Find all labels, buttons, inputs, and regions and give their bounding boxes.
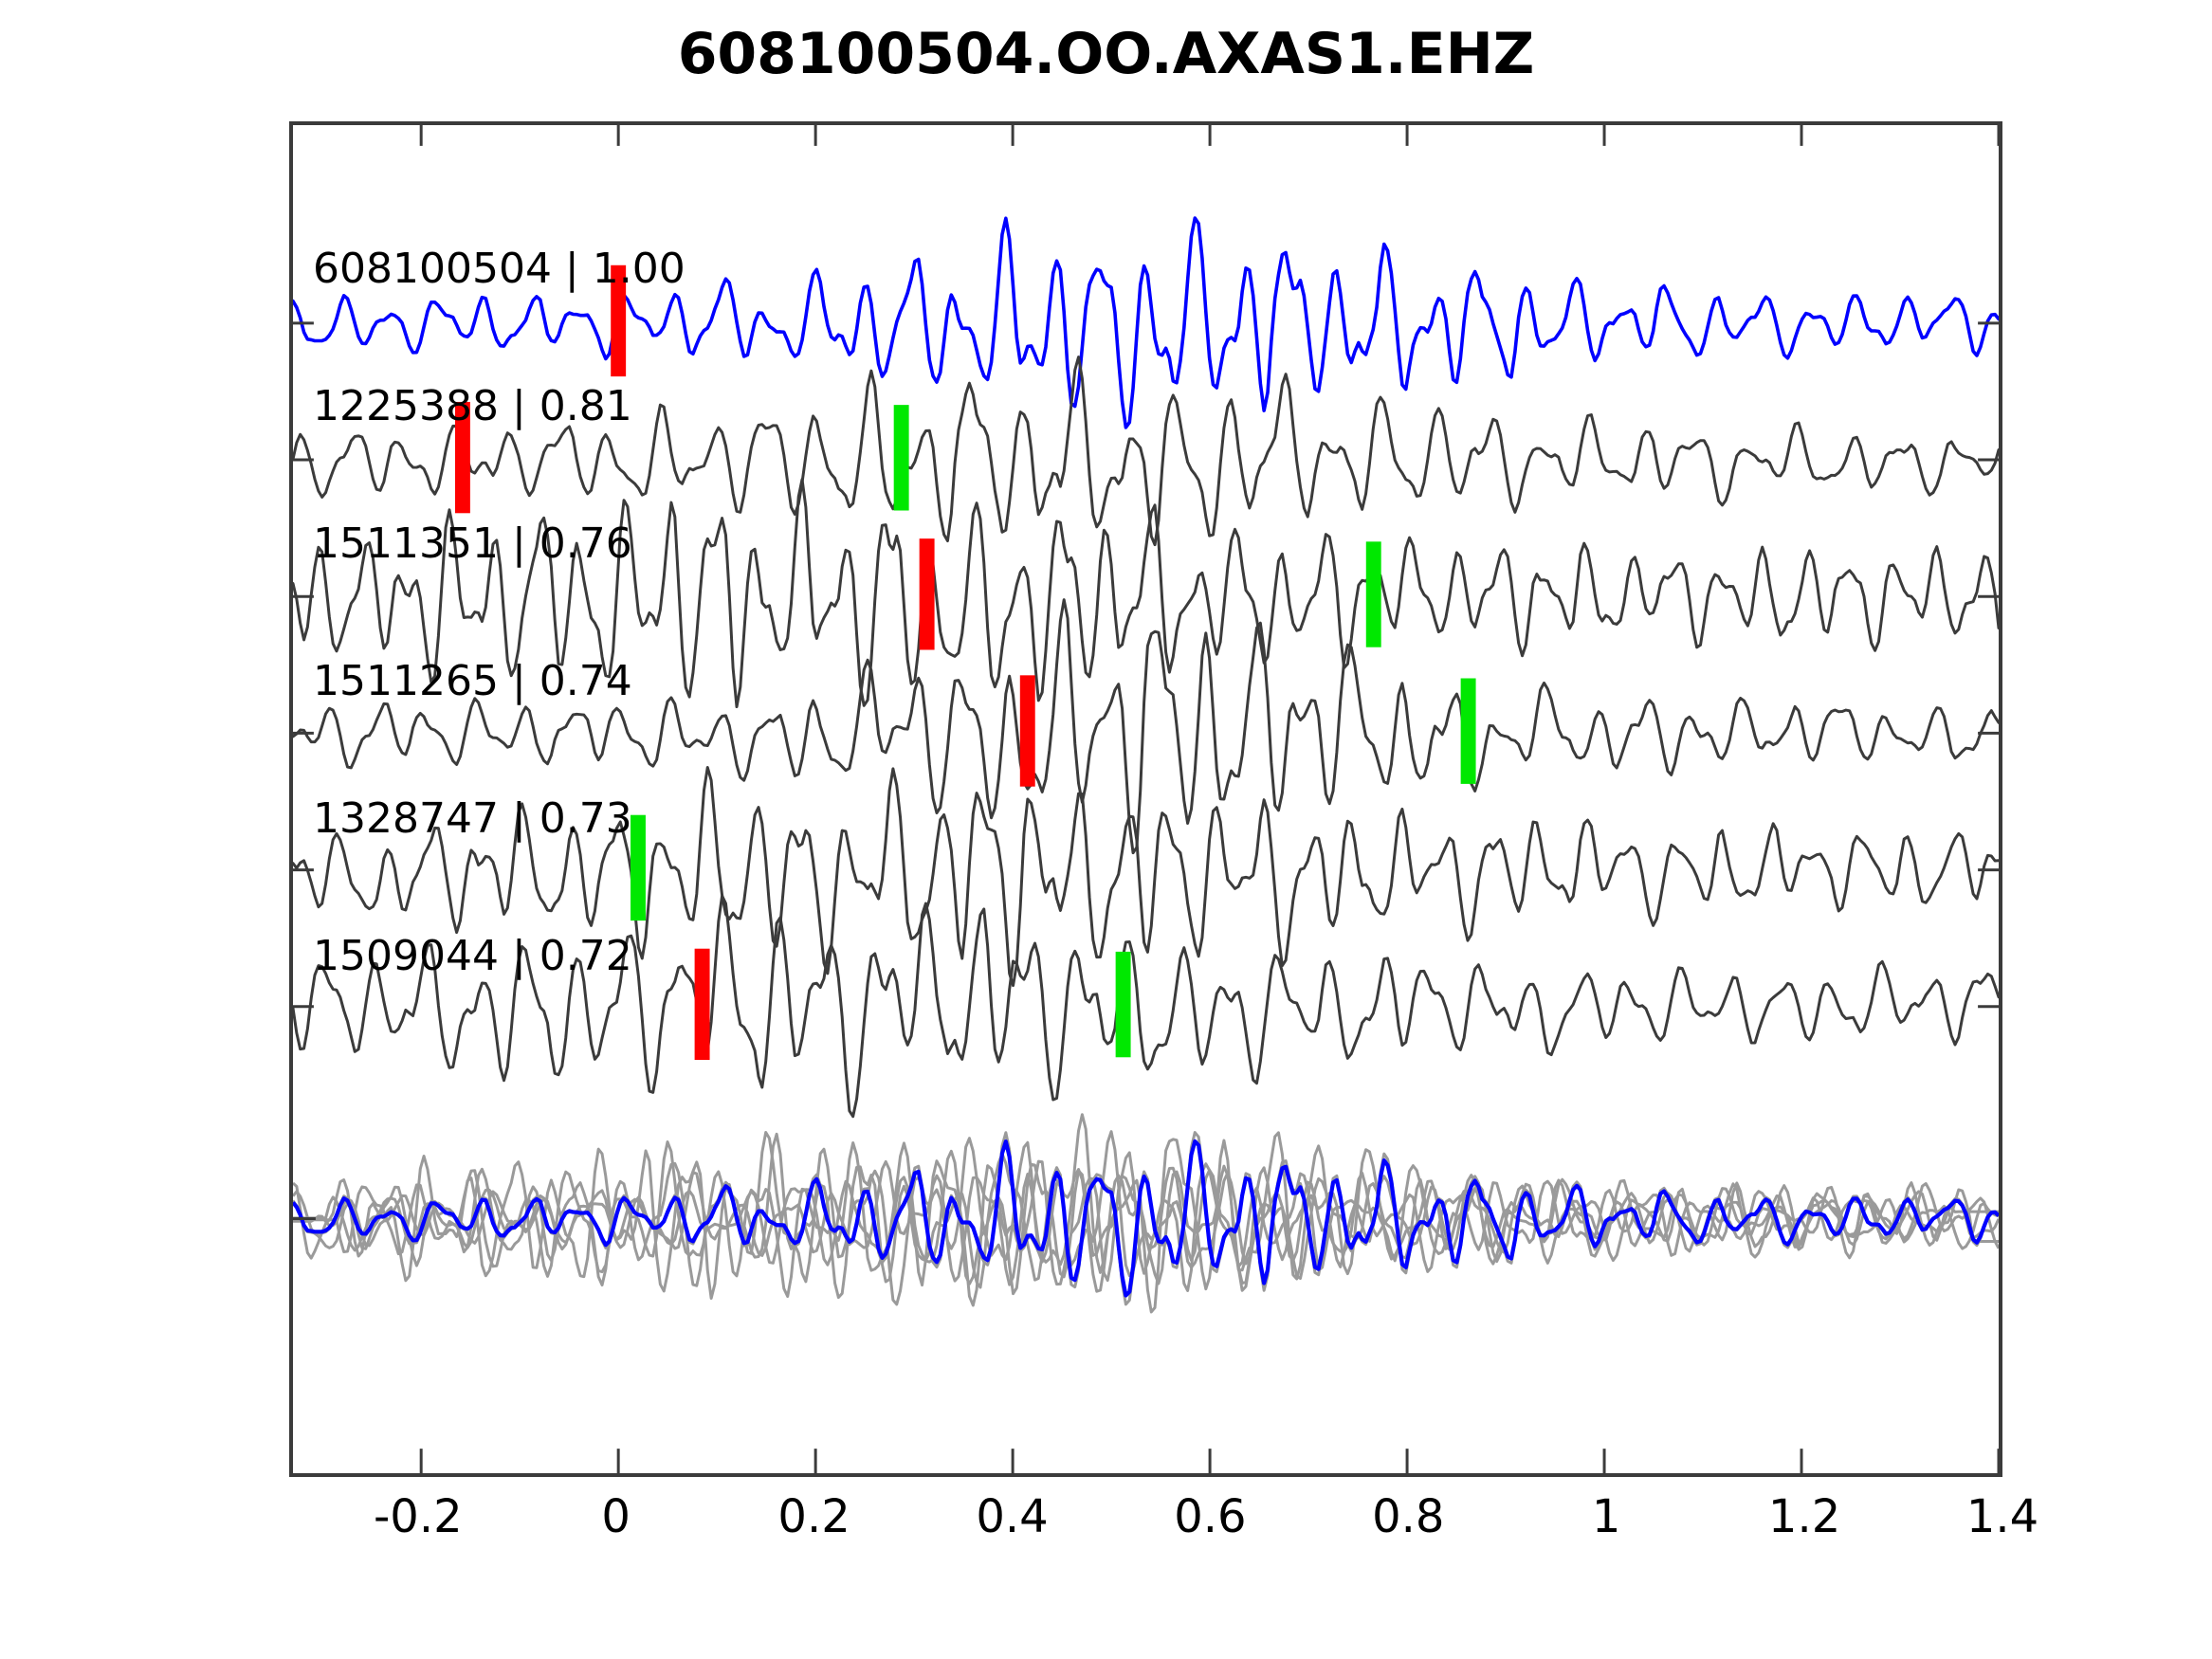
- figure-root: 608100504.OO.AXAS1.EHZ 608100504 | 1.001…: [0, 0, 2212, 1659]
- trace-label-1328747: 1328747 | 0.73: [313, 794, 632, 843]
- trace-label-1225388: 1225388 | 0.81: [313, 382, 632, 430]
- pick-marker-p: [695, 949, 710, 1060]
- pick-marker-s: [1366, 541, 1381, 647]
- x-tick-label: 1: [1592, 1490, 1621, 1543]
- x-tick-label: 0.6: [1174, 1490, 1246, 1543]
- trace-label-608100504: 608100504 | 1.00: [313, 245, 686, 293]
- pick-marker-p: [1020, 675, 1035, 786]
- pick-marker-p: [920, 538, 935, 649]
- trace-label-1511351: 1511351 | 0.76: [313, 520, 632, 568]
- x-tick-label: 0.4: [976, 1490, 1048, 1543]
- x-tick-label: 0.2: [777, 1490, 850, 1543]
- x-tick-label: 0.8: [1372, 1490, 1444, 1543]
- pick-marker-s: [631, 815, 646, 921]
- waveform-trace: [293, 896, 1999, 1117]
- x-tick-label: 1.2: [1768, 1490, 1840, 1543]
- x-tick-label: 0: [601, 1490, 631, 1543]
- x-axis-tick-labels: -0.200.20.40.60.811.21.4: [289, 1490, 2002, 1576]
- x-tick-label: -0.2: [374, 1490, 463, 1543]
- pick-marker-s: [1461, 679, 1476, 784]
- x-tick-label: 1.4: [1966, 1490, 2038, 1543]
- trace-label-1511265: 1511265 | 0.74: [313, 657, 632, 705]
- page-title: 608100504.OO.AXAS1.EHZ: [0, 21, 2212, 87]
- pick-marker-s: [1116, 952, 1131, 1057]
- pick-marker-s: [894, 405, 909, 510]
- trace-label-1509044: 1509044 | 0.72: [313, 932, 632, 980]
